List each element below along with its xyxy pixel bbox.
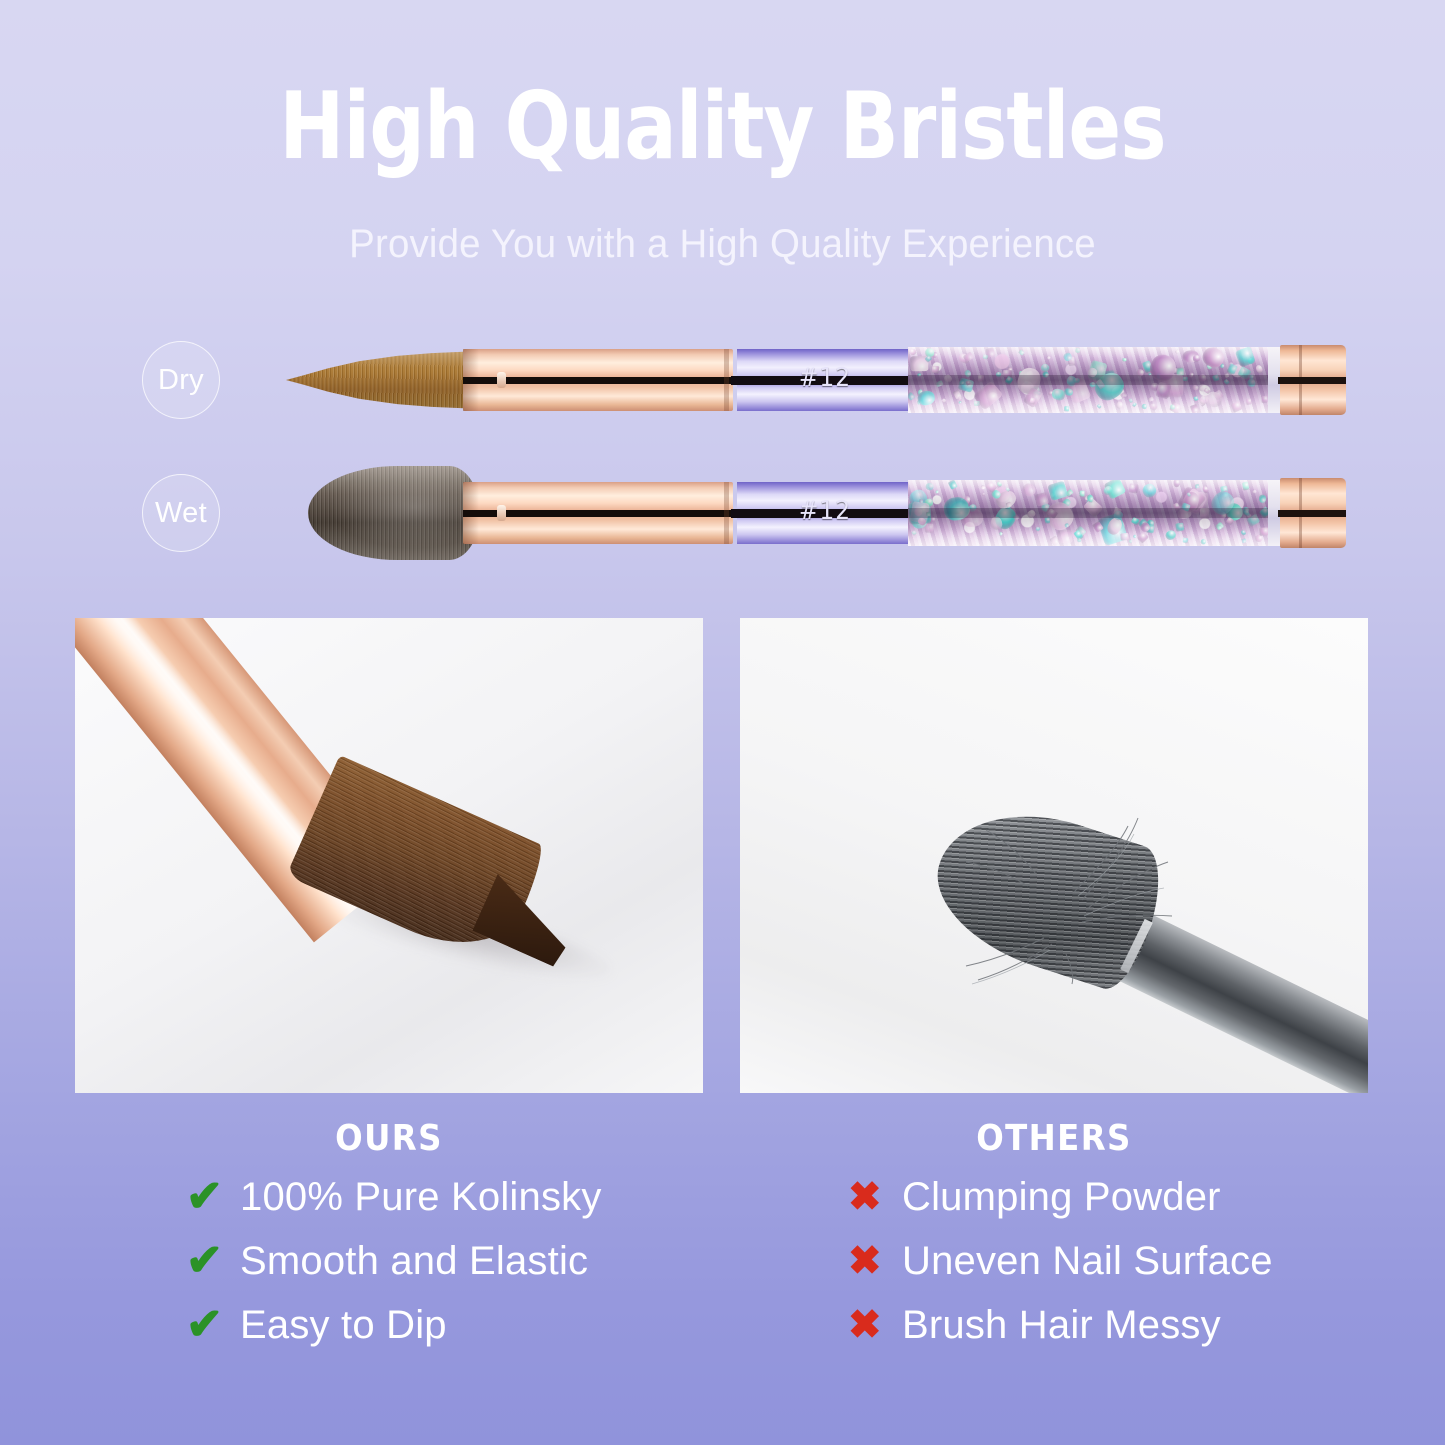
- comparison-photo-others: [740, 618, 1368, 1093]
- cross-icon: ✖: [848, 1241, 902, 1281]
- end-cap-line: [1278, 510, 1346, 517]
- feature-label: Smooth and Elastic: [240, 1239, 588, 1284]
- ferrule-ring: [724, 349, 729, 411]
- brush-ferrule-wet: [463, 482, 733, 544]
- barrel-gloss: [908, 480, 1270, 546]
- list-item: ✔ Smooth and Elastic: [186, 1229, 602, 1293]
- brush-demo-wet: Wet #12: [0, 438, 1445, 588]
- handle-glitter-barrel-wet: [908, 480, 1270, 546]
- handle-end-cap-dry: [1280, 345, 1346, 415]
- feature-list-ours: ✔ 100% Pure Kolinsky ✔ Smooth and Elasti…: [186, 1165, 602, 1357]
- feature-label: Easy to Dip: [240, 1303, 447, 1348]
- comparison-heading-others: OTHERS: [740, 1118, 1368, 1159]
- brush-bristle-dry: [286, 341, 478, 419]
- feature-label: Brush Hair Messy: [902, 1303, 1221, 1348]
- bristle-shading: [286, 341, 478, 419]
- infographic-canvas: High Quality Bristles Provide You with a…: [0, 0, 1445, 1445]
- comparison-photo-ours: [75, 618, 703, 1093]
- cross-icon: ✖: [848, 1305, 902, 1345]
- feature-label: Uneven Nail Surface: [902, 1239, 1273, 1284]
- list-item: ✔ Easy to Dip: [186, 1293, 602, 1357]
- state-badge-wet: Wet: [142, 474, 220, 552]
- feature-list-others: ✖ Clumping Powder ✖ Uneven Nail Surface …: [848, 1165, 1273, 1357]
- state-badge-dry: Dry: [142, 341, 220, 419]
- list-item: ✔ 100% Pure Kolinsky: [186, 1165, 602, 1229]
- barrel-gloss: [908, 347, 1270, 413]
- check-icon: ✔: [186, 1303, 240, 1347]
- brush-bristle-wet: [308, 466, 480, 560]
- list-item: ✖ Brush Hair Messy: [848, 1293, 1273, 1357]
- brush-demo-dry: Dry #12: [0, 305, 1445, 455]
- handle-purple-section-wet: #12: [737, 482, 913, 544]
- ferrule-highlight-nub: [497, 372, 506, 388]
- page-subtitle: Provide You with a High Quality Experien…: [29, 222, 1416, 267]
- list-item: ✖ Uneven Nail Surface: [848, 1229, 1273, 1293]
- comparison-heading-ours: OURS: [75, 1118, 703, 1159]
- check-icon: ✔: [186, 1239, 240, 1283]
- photo-stray-hairs-icon: [932, 804, 1182, 986]
- brush-size-label-wet: #12: [737, 496, 913, 526]
- cross-icon: ✖: [848, 1177, 902, 1217]
- ferrule-highlight-nub: [497, 505, 506, 521]
- handle-end-cap-wet: [1280, 478, 1346, 548]
- brush-size-label-dry: #12: [737, 363, 913, 393]
- page-title: High Quality Bristles: [51, 78, 1395, 176]
- bristle-shading: [308, 466, 480, 560]
- feature-label: Clumping Powder: [902, 1175, 1221, 1220]
- handle-purple-section-dry: #12: [737, 349, 913, 411]
- check-icon: ✔: [186, 1175, 240, 1219]
- end-cap-line: [1278, 377, 1346, 384]
- list-item: ✖ Clumping Powder: [848, 1165, 1273, 1229]
- feature-label: 100% Pure Kolinsky: [240, 1175, 602, 1220]
- brush-ferrule-dry: [463, 349, 733, 411]
- handle-glitter-barrel-dry: [908, 347, 1270, 413]
- ferrule-ring: [724, 482, 729, 544]
